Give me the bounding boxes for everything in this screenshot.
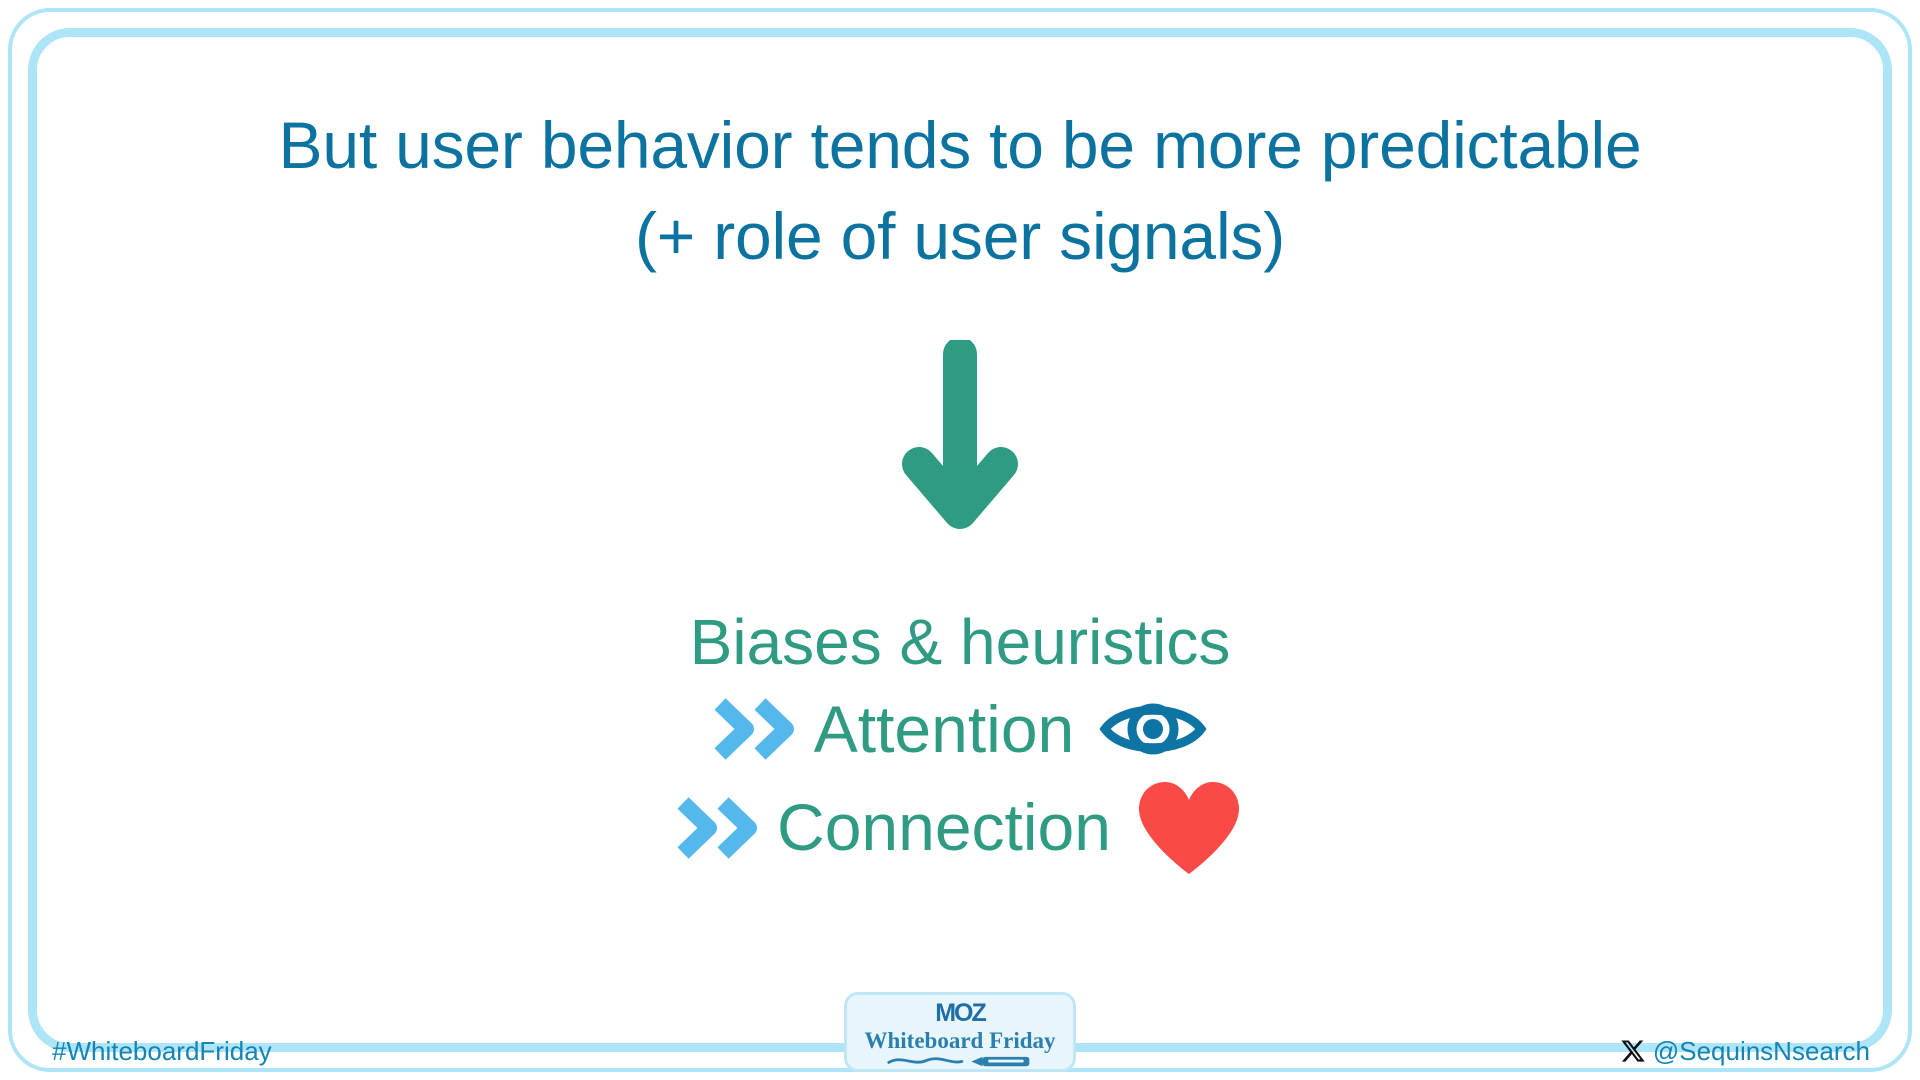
moz-whiteboard-friday-badge: MOZ Whiteboard Friday xyxy=(844,992,1076,1072)
bullet-row-connection: Connection xyxy=(60,778,1860,878)
eye-icon xyxy=(1098,697,1208,761)
badge-tagline: Whiteboard Friday xyxy=(864,1029,1055,1052)
section-heading: Biases & heuristics xyxy=(60,605,1860,681)
title-line-1: But user behavior tends to be more predi… xyxy=(60,100,1860,191)
title-line-2: (+ role of user signals) xyxy=(60,191,1860,282)
arrow-container xyxy=(60,340,1860,536)
moz-logo-text: MOZ xyxy=(935,1001,985,1026)
footer-hashtag: #WhiteboardFriday xyxy=(52,1038,272,1064)
x-twitter-icon xyxy=(1620,1038,1646,1064)
slide-canvas: But user behavior tends to be more predi… xyxy=(0,0,1920,1080)
bullet-label-attention: Attention xyxy=(814,695,1075,764)
footer-social: @SequinsNsearch xyxy=(1620,1038,1870,1064)
bullet-label-connection: Connection xyxy=(777,793,1111,862)
double-chevron-right-icon xyxy=(675,797,763,859)
marker-pen-icon xyxy=(880,1054,1040,1069)
bullet-row-attention: Attention xyxy=(60,695,1860,764)
double-chevron-right-icon xyxy=(712,698,800,760)
title-block: But user behavior tends to be more predi… xyxy=(60,100,1860,282)
heart-icon xyxy=(1133,778,1245,878)
slide-content: But user behavior tends to be more predi… xyxy=(60,50,1860,990)
down-arrow-icon xyxy=(901,340,1019,536)
footer-handle: @SequinsNsearch xyxy=(1653,1038,1870,1064)
green-section: Biases & heuristics Attention xyxy=(60,605,1860,878)
